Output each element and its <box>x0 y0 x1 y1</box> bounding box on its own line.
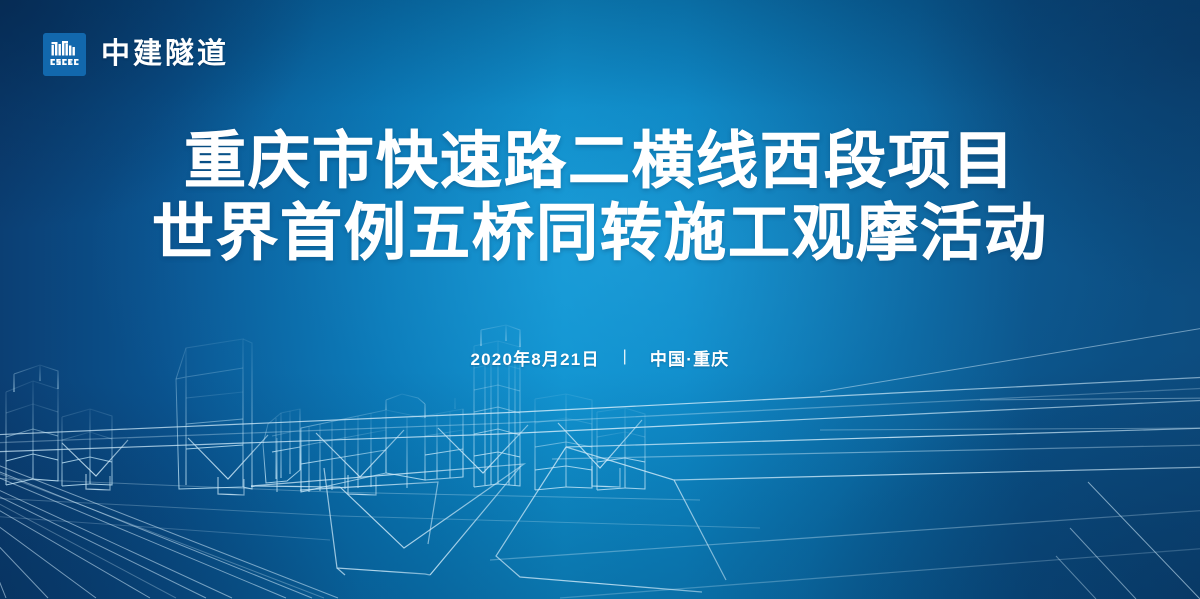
title-line-1: 重庆市快速路二横线西段项目 <box>0 126 1200 198</box>
bottom-right-diagonals <box>1056 482 1200 599</box>
road-perspective-lines <box>0 462 760 598</box>
page-title: 重庆市快速路二横线西段项目 世界首例五桥同转施工观摩活动 <box>0 126 1200 270</box>
meta-separator: | <box>623 348 627 366</box>
road-interchange-wireframe <box>251 428 1200 598</box>
background-lineart <box>0 0 1200 599</box>
event-location: 中国·重庆 <box>650 345 730 370</box>
brand-wordmark: 中建隧道 <box>101 40 229 69</box>
upper-right-diagonals <box>820 327 1200 430</box>
cscec-logo-icon <box>43 33 86 76</box>
brand-logo-block: 中建隧道 <box>43 33 229 76</box>
title-line-2: 世界首例五桥同转施工观摩活动 <box>0 198 1200 270</box>
event-meta: 2020年8月21日 | 中国·重庆 <box>0 345 1200 370</box>
event-date: 2020年8月21日 <box>470 345 599 370</box>
event-banner: 中建隧道 重庆市快速路二横线西段项目 世界首例五桥同转施工观摩活动 2020年8… <box>0 0 1200 599</box>
